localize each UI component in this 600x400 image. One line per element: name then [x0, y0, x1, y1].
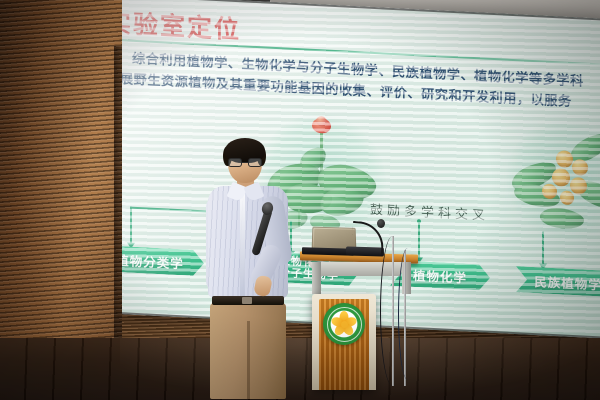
screen-frame: [118, 0, 600, 339]
desk-leg: [312, 262, 321, 294]
lecture-hall-photo: 实验室定位 综合利用植物学、生物化学与分子生物学、民族植物学、植物化学等多学科 …: [0, 0, 600, 400]
cable: [398, 248, 417, 380]
belt-buckle: [242, 297, 252, 304]
wooden-podium: [312, 294, 376, 390]
presenter-trousers: [210, 303, 286, 399]
institute-emblem: [323, 303, 365, 345]
microphone-capsule-icon: [377, 219, 385, 228]
projection-screen: 实验室定位 综合利用植物学、生物化学与分子生物学、民族植物学、植物化学等多学科 …: [118, 0, 600, 339]
presenter: [206, 140, 292, 390]
eyeglasses-icon: [228, 158, 262, 167]
